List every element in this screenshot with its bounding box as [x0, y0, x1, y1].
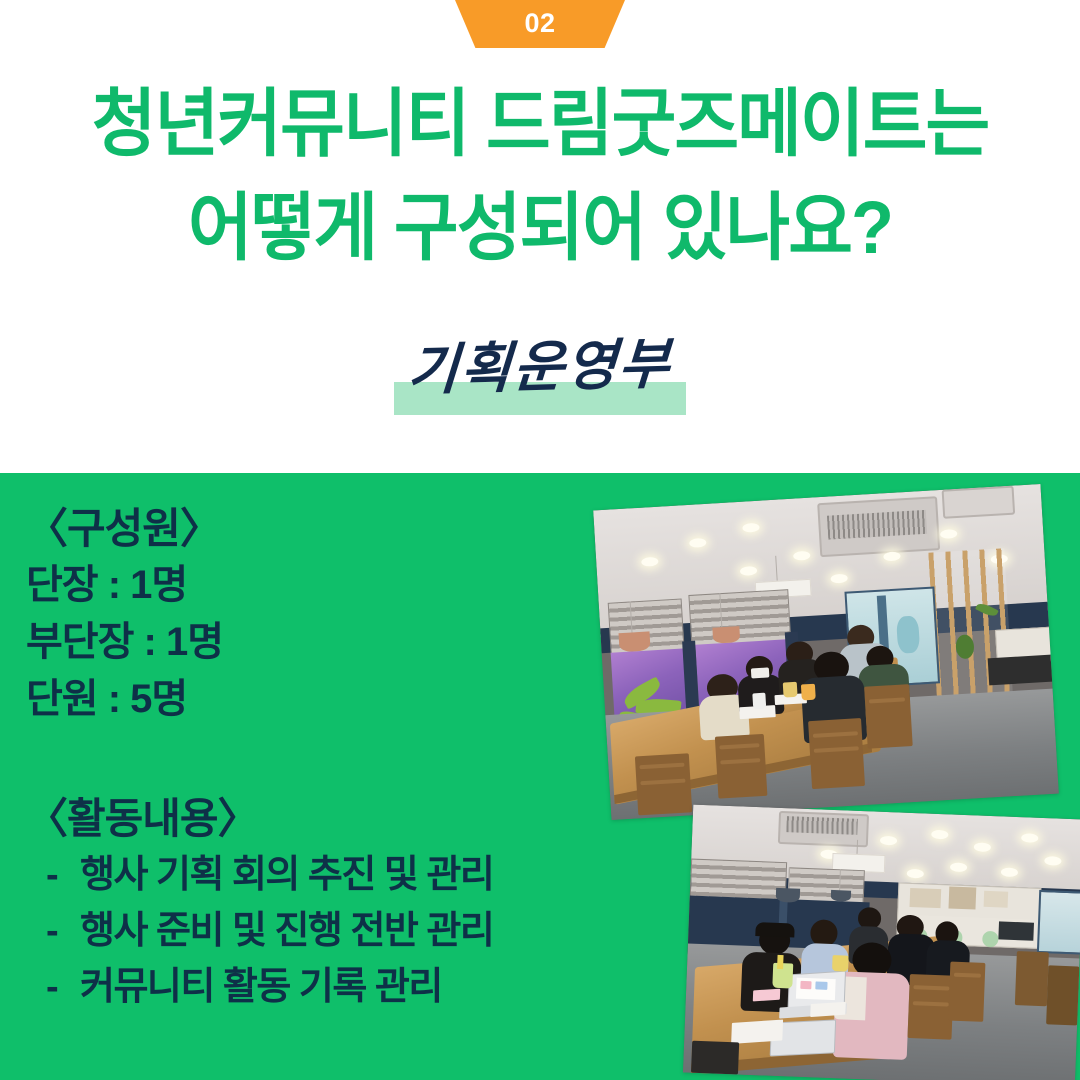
activity-dash-icon: -	[46, 903, 80, 959]
activities-block: 〈활동내용〉 -행사 기획 회의 추진 및 관리 -행사 준비 및 진행 전반 …	[26, 791, 646, 1015]
activity-item: -행사 준비 및 진행 전반 관리	[26, 903, 646, 959]
members-heading: 〈구성원〉	[26, 501, 546, 557]
activity-text: 행사 준비 및 진행 전반 관리	[80, 910, 493, 952]
activities-heading: 〈활동내용〉	[26, 791, 646, 847]
department-name-inner: 기획운영부	[394, 328, 685, 406]
member-line-members: 단원 : 5명	[26, 671, 546, 728]
title-line-2: 어떻게 구성되어 있나요?	[27, 176, 1053, 280]
info-card: 02 청년커뮤니티 드림굿즈메이트는 어떻게 구성되어 있나요? 기획운영부 〈…	[0, 0, 1080, 1080]
members-block: 〈구성원〉 단장 : 1명 부단장 : 1명 단원 : 5명	[26, 501, 546, 728]
header-section: 02 청년커뮤니티 드림굿즈메이트는 어떻게 구성되어 있나요? 기획운영부	[0, 0, 1080, 473]
title-line-1: 청년커뮤니티 드림굿즈메이트는	[27, 72, 1053, 176]
activity-dash-icon: -	[46, 847, 80, 903]
meeting-room-photo-2	[683, 805, 1080, 1080]
activity-item: -커뮤니티 활동 기록 관리	[26, 959, 646, 1015]
step-number-badge: 02	[455, 0, 625, 48]
step-number-text: 02	[524, 10, 555, 39]
activity-text: 행사 기획 회의 추진 및 관리	[80, 854, 493, 896]
page-title: 청년커뮤니티 드림굿즈메이트는 어떻게 구성되어 있나요?	[0, 72, 1080, 280]
meeting-room-photo-1	[593, 484, 1059, 820]
department-name-block: 기획운영부	[0, 328, 1080, 428]
member-line-vice-leader: 부단장 : 1명	[26, 614, 546, 671]
member-line-leader: 단장 : 1명	[26, 557, 546, 614]
activity-dash-icon: -	[46, 959, 80, 1015]
department-name-text: 기획운영부	[406, 325, 674, 410]
activity-text: 커뮤니티 활동 기록 관리	[80, 966, 442, 1008]
activity-item: -행사 기획 회의 추진 및 관리	[26, 847, 646, 903]
